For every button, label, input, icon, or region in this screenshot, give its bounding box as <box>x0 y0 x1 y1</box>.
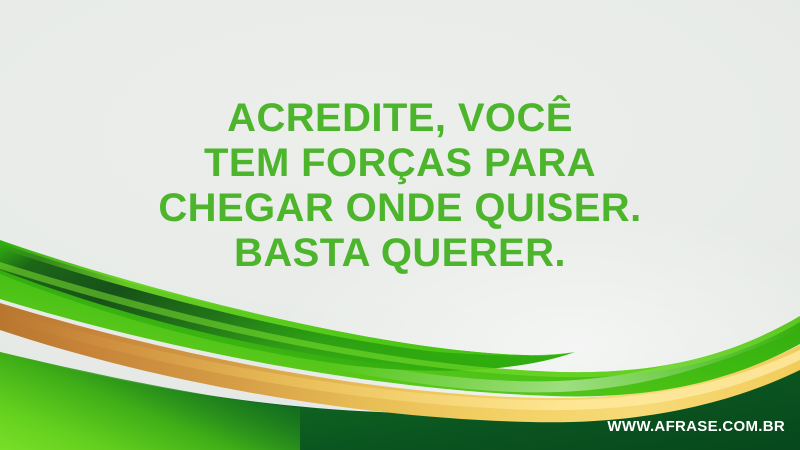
quote-line-2: TEM FORÇAS PARA <box>0 141 800 186</box>
quote-line-3: CHEGAR ONDE QUISER. <box>0 186 800 231</box>
poster-canvas: ACREDITE, VOCÊ TEM FORÇAS PARA CHEGAR ON… <box>0 0 800 450</box>
quote-line-4: BASTA QUERER. <box>0 231 800 276</box>
quote-text-block: ACREDITE, VOCÊ TEM FORÇAS PARA CHEGAR ON… <box>0 96 800 276</box>
quote-line-1: ACREDITE, VOCÊ <box>0 96 800 141</box>
site-url-label: WWW.AFRASE.COM.BR <box>607 418 785 435</box>
